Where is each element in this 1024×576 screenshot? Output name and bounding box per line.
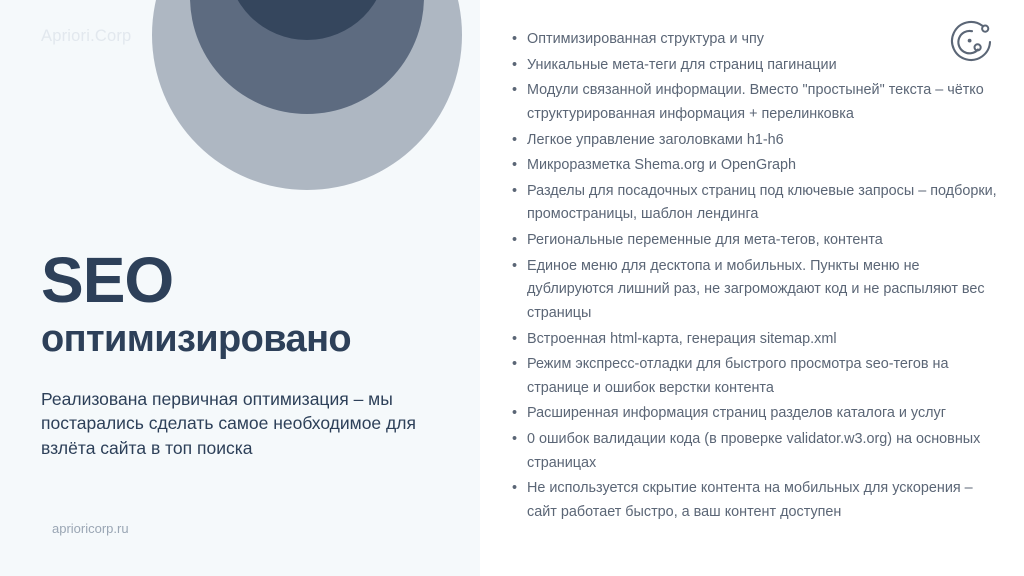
feature-item-label: Режим экспресс-отладки для быстрого прос… [527, 356, 948, 396]
lead-paragraph: Реализована первичная оптимизация – мы п… [41, 387, 441, 462]
feature-item: •Легкое управление заголовками h1-h6 [508, 129, 1000, 153]
feature-item-label: Микроразметка Shema.org и OpenGraph [527, 157, 796, 173]
feature-item-label: Региональные переменные для мета-тегов, … [527, 232, 883, 248]
ring-second [190, 0, 424, 114]
brand-name: Apriori.Corp [41, 27, 131, 46]
bullet-icon: • [512, 402, 517, 426]
feature-item-label: Модули связанной информации. Вместо "про… [527, 82, 984, 122]
feature-item-label: 0 ошибок валидации кода (в проверке vali… [527, 431, 980, 471]
feature-item: •Оптимизированная структура и чпу [508, 28, 1000, 52]
feature-item: •Модули связанной информации. Вместо "пр… [508, 79, 1000, 126]
feature-item: •Региональные переменные для мета-тегов,… [508, 229, 1000, 253]
bullet-icon: • [512, 229, 517, 253]
bullet-icon: • [512, 255, 517, 279]
page-subtitle: оптимизировано [41, 318, 453, 361]
ring-outer [152, 0, 462, 190]
bullet-icon: • [512, 154, 517, 178]
feature-item-label: Не используется скрытие контента на моби… [527, 480, 973, 520]
feature-item-label: Встроенная html-карта, генерация sitemap… [527, 331, 837, 347]
page-title: SEO [41, 248, 453, 312]
left-panel: Apriori.Corp SEO оптимизировано Реализов… [0, 0, 480, 576]
bullet-icon: • [512, 79, 517, 103]
slide-root: Apriori.Corp SEO оптимизировано Реализов… [0, 0, 1024, 576]
feature-item: •Единое меню для десктопа и мобильных. П… [508, 255, 1000, 326]
feature-item-label: Оптимизированная структура и чпу [527, 31, 764, 47]
left-content: SEO оптимизировано Реализована первичная… [41, 248, 453, 461]
feature-item: •Микроразметка Shema.org и OpenGraph [508, 154, 1000, 178]
feature-item: •0 ошибок валидации кода (в проверке val… [508, 428, 1000, 475]
feature-item: •Режим экспресс-отладки для быстрого про… [508, 353, 1000, 400]
feature-item-label: Уникальные мета-теги для страниц пагинац… [527, 57, 837, 73]
feature-item: •Не используется скрытие контента на моб… [508, 477, 1000, 524]
feature-item: •Расширенная информация страниц разделов… [508, 402, 1000, 426]
feature-item: •Уникальные мета-теги для страниц пагина… [508, 54, 1000, 78]
ring-third [227, 0, 387, 40]
bullet-icon: • [512, 180, 517, 204]
right-panel: •Оптимизированная структура и чпу•Уникал… [480, 0, 1024, 576]
bullet-icon: • [512, 54, 517, 78]
feature-list: •Оптимизированная структура и чпу•Уникал… [508, 28, 1000, 527]
bullet-icon: • [512, 129, 517, 153]
site-url: aprioricorp.ru [52, 521, 129, 536]
bullet-icon: • [512, 353, 517, 377]
feature-item: •Разделы для посадочных страниц под ключ… [508, 180, 1000, 227]
bullet-icon: • [512, 328, 517, 352]
feature-item-label: Единое меню для десктопа и мобильных. Пу… [527, 258, 985, 321]
bullet-icon: • [512, 477, 517, 501]
bullet-icon: • [512, 428, 517, 452]
bullet-icon: • [512, 28, 517, 52]
feature-item-label: Разделы для посадочных страниц под ключе… [527, 183, 997, 223]
feature-item-label: Легкое управление заголовками h1-h6 [527, 132, 784, 148]
feature-item: •Встроенная html-карта, генерация sitema… [508, 328, 1000, 352]
feature-item-label: Расширенная информация страниц разделов … [527, 405, 946, 421]
